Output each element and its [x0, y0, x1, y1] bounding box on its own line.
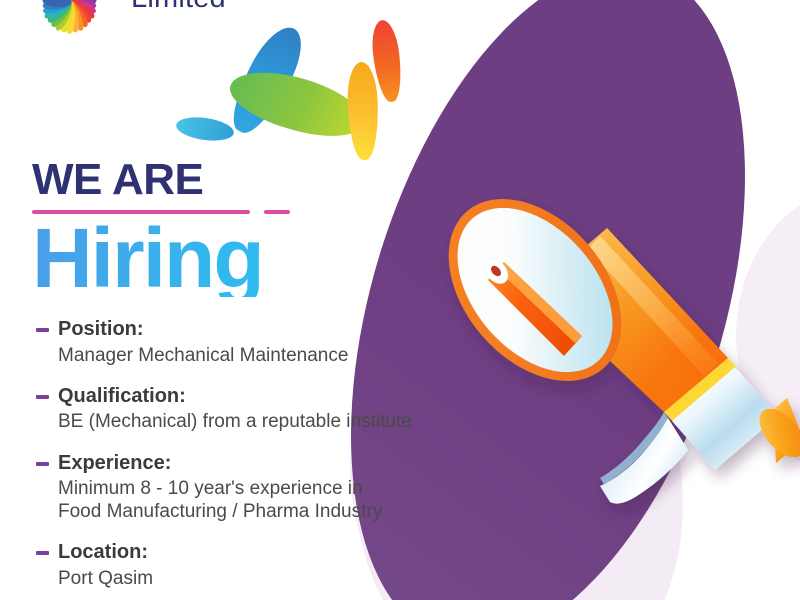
detail-item-experience: Experience: Minimum 8 - 10 year's experi… [32, 452, 452, 524]
detail-item-qualification: Qualification: BE (Mechanical) from a re… [32, 385, 452, 434]
detail-item-position: Position: Manager Mechanical Maintenance [32, 318, 452, 367]
dash-bullet-icon [36, 328, 49, 332]
cyan-splash-droplet [175, 114, 235, 144]
headline-block: WE ARE Hiring [32, 158, 372, 297]
headline-divider [32, 208, 372, 218]
green-splash-petal [224, 60, 371, 148]
detail-label-qualification: Qualification: [58, 385, 452, 409]
blue-splash-petal [221, 19, 313, 141]
detail-label-location: Location: [58, 541, 452, 565]
detail-value-location: Port Qasim [58, 567, 452, 590]
company-name-text: Limited [131, 0, 226, 15]
detail-value-qualification: BE (Mechanical) from a reputable institu… [58, 410, 452, 433]
dash-bullet-icon [36, 395, 49, 399]
headline-we-are: WE ARE [32, 158, 372, 202]
yellow-splash-petal [346, 62, 379, 161]
detail-value-experience: Minimum 8 - 10 year's experience in Food… [58, 477, 452, 523]
dash-bullet-icon [36, 551, 49, 555]
megaphone-icon [432, 150, 800, 520]
divider-short-dash [264, 210, 290, 214]
rainbow-petal-fan-logo-icon [12, 0, 132, 26]
dash-bullet-icon [36, 462, 49, 466]
company-logo: Limited [0, 0, 240, 26]
detail-item-location: Location: Port Qasim [32, 541, 452, 590]
headline-hiring: Hiring [32, 220, 372, 297]
detail-label-position: Position: [58, 318, 452, 342]
detail-label-experience: Experience: [58, 452, 452, 476]
megaphone-handle [600, 418, 688, 504]
hiring-poster: Limited WE ARE Hiring Position: Manager … [0, 0, 800, 600]
detail-value-position: Manager Mechanical Maintenance [58, 344, 452, 367]
job-details-list: Position: Manager Mechanical Maintenance… [32, 318, 452, 590]
divider-long-segment [32, 210, 250, 214]
red-splash-petal [369, 19, 405, 104]
megaphone-illustration [432, 150, 800, 520]
